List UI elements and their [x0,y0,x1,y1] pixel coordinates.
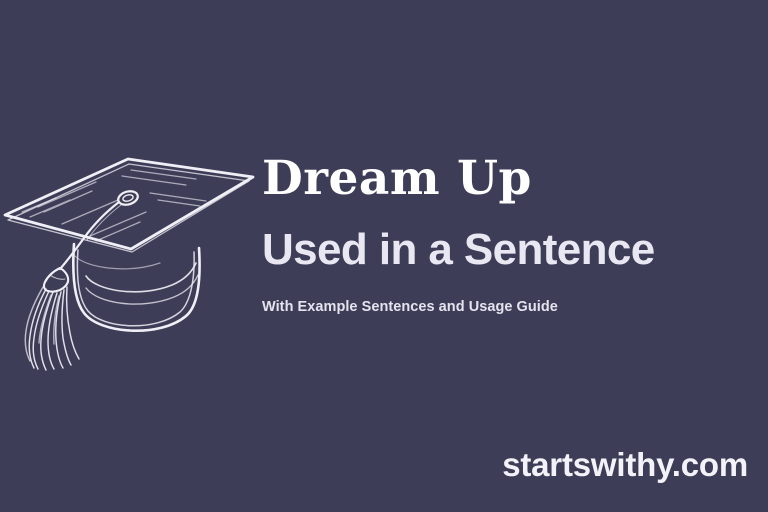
cap-base [73,244,199,331]
poster-canvas: Dream Up Used in a Sentence With Example… [0,0,768,512]
subtitle-text: With Example Sentences and Usage Guide [262,299,754,315]
graduation-cap-illustration [0,148,272,370]
brand-website: startswithy.com [502,446,748,484]
tassel-knot [44,268,68,292]
headline-line-1: Dream Up [262,155,754,203]
tassel-strands [25,287,79,370]
headline-line-2: Used in a Sentence [262,227,754,273]
cap-button [117,189,140,207]
headline-block: Dream Up Used in a Sentence With Example… [262,155,754,315]
